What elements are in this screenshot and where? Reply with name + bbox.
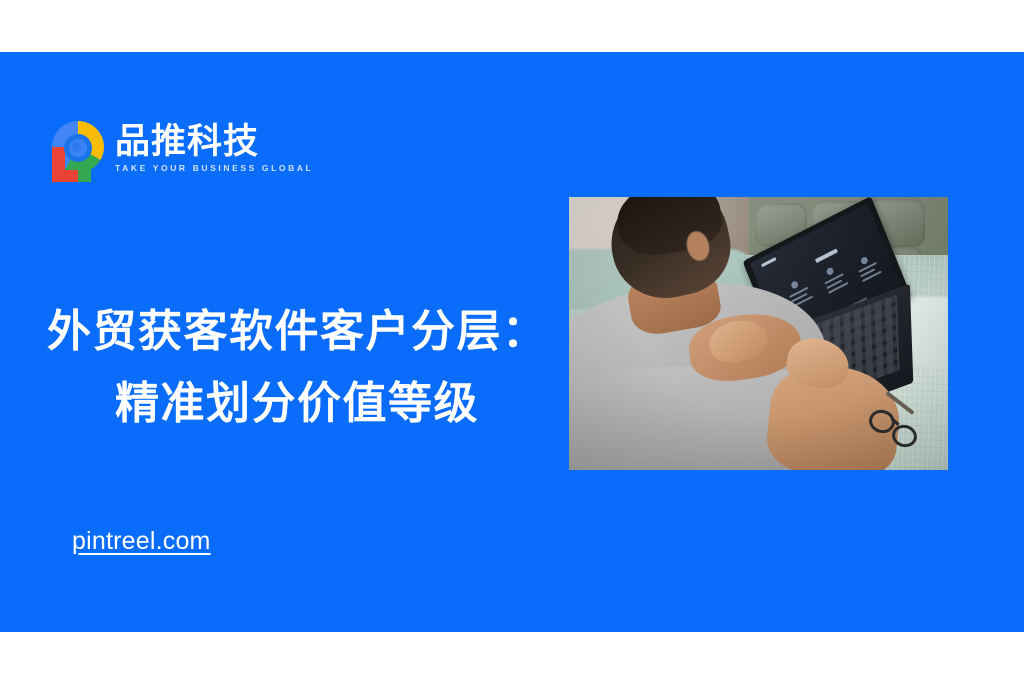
logo-company-name: 品推科技 [115,122,295,162]
brand-logo[interactable]: 品推科技 TAKE YOUR BUSINESS GLOBAL [47,118,267,186]
photo-vignette [569,197,948,470]
logo-text-block: 品推科技 TAKE YOUR BUSINESS GLOBAL [115,122,295,174]
slide-canvas: 品推科技 TAKE YOUR BUSINESS GLOBAL 外贸获客软件客户分… [0,0,1024,683]
page-title-line-1: 外贸获客软件客户分层： [47,296,547,368]
website-url-link[interactable]: pintreel.com [72,527,211,556]
pintreel-circle-p-logo-icon [47,118,109,186]
page-title-line-2: 精准划分价值等级 [47,368,547,440]
page-title: 外贸获客软件客户分层： 精准划分价值等级 [47,296,547,440]
logo-tagline: TAKE YOUR BUSINESS GLOBAL [115,163,295,174]
hero-photo [569,197,948,470]
